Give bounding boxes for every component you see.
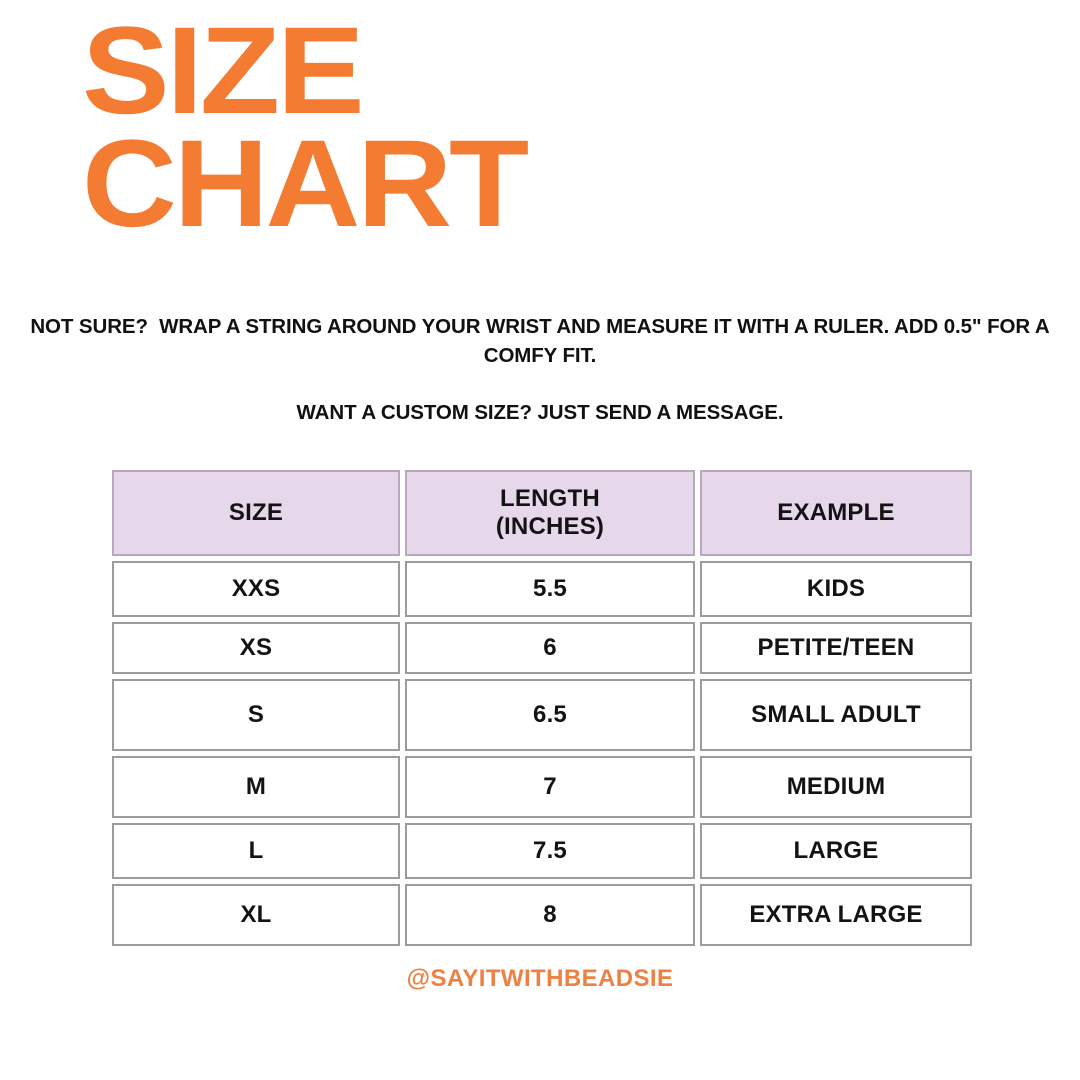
cell-size: XXS xyxy=(112,561,400,617)
measurement-instructions: NOT SURE? WRAP A STRING AROUND YOUR WRIS… xyxy=(8,312,1072,370)
column-header-length: LENGTH (INCHES) xyxy=(405,470,695,556)
cell-example: MEDIUM xyxy=(700,756,972,818)
cell-length: 6.5 xyxy=(405,679,695,751)
cell-length: 6 xyxy=(405,622,695,674)
cell-length: 8 xyxy=(405,884,695,946)
cell-example: KIDS xyxy=(700,561,972,617)
cell-example: PETITE/TEEN xyxy=(700,622,972,674)
cell-size: S xyxy=(112,679,400,751)
column-header-length-line-2: (INCHES) xyxy=(496,513,604,541)
table-header-row: SIZE LENGTH (INCHES) EXAMPLE xyxy=(112,470,972,556)
column-header-length-line-1: LENGTH xyxy=(496,485,604,513)
page-title: SIZE CHART xyxy=(82,22,782,234)
cell-example: SMALL ADULT xyxy=(700,679,972,751)
cell-example: LARGE xyxy=(700,823,972,879)
table-row: XS 6 PETITE/TEEN xyxy=(112,622,972,674)
table-row: XXS 5.5 KIDS xyxy=(112,561,972,617)
cell-size: XL xyxy=(112,884,400,946)
brand-handle: @SAYITWITHBEADSIE xyxy=(0,965,1080,993)
cell-size: M xyxy=(112,756,400,818)
cell-size: L xyxy=(112,823,400,879)
column-header-size: SIZE xyxy=(112,470,400,556)
page-title-line-1: SIZE xyxy=(82,22,824,121)
cell-length: 7.5 xyxy=(405,823,695,879)
column-header-example: EXAMPLE xyxy=(700,470,972,556)
cell-length: 5.5 xyxy=(405,561,695,617)
cell-example: EXTRA LARGE xyxy=(700,884,972,946)
cell-length: 7 xyxy=(405,756,695,818)
page-title-line-2: CHART xyxy=(82,135,824,234)
table-row: M 7 MEDIUM xyxy=(112,756,972,818)
size-chart-table: SIZE LENGTH (INCHES) EXAMPLE XXS 5.5 KID… xyxy=(112,470,972,951)
custom-size-note: WANT A CUSTOM SIZE? JUST SEND A MESSAGE. xyxy=(8,398,1072,427)
table-row: XL 8 EXTRA LARGE xyxy=(112,884,972,946)
table-row: L 7.5 LARGE xyxy=(112,823,972,879)
cell-size: XS xyxy=(112,622,400,674)
table-row: S 6.5 SMALL ADULT xyxy=(112,679,972,751)
